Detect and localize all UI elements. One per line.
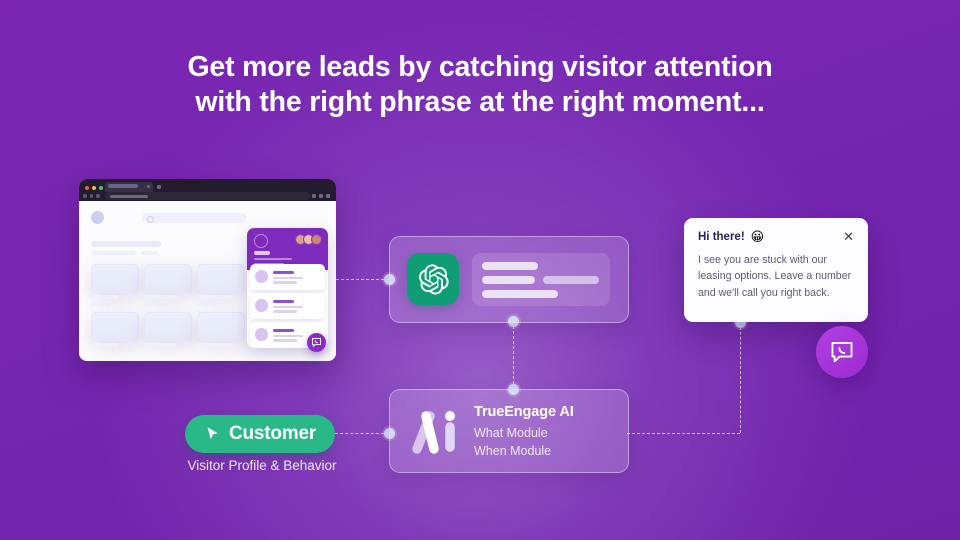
connector-openai-to-trueengage	[513, 321, 514, 389]
content-line-placeholder	[144, 343, 177, 347]
chat-widget-fab[interactable]	[816, 326, 868, 378]
chat-panel-row[interactable]	[250, 293, 325, 319]
trueengage-ai-logo-icon	[403, 401, 465, 461]
content-line-placeholder	[91, 302, 111, 306]
avatar	[255, 270, 268, 283]
content-line-placeholder	[144, 302, 164, 306]
content-line-placeholder	[197, 343, 233, 347]
content-line-placeholder	[144, 295, 177, 299]
grinning-face-emoji-icon: 😀	[751, 230, 765, 243]
content-card-placeholder	[197, 312, 245, 341]
content-card-placeholder	[144, 312, 192, 341]
slide-canvas: Get more leads by catching visitor atten…	[0, 0, 960, 540]
trueengage-module-when: When Module	[474, 442, 574, 460]
new-tab-icon[interactable]	[157, 185, 161, 189]
content-card-placeholder	[91, 264, 139, 293]
openai-logo-tile	[407, 253, 459, 305]
chat-popup-message: I see you are stuck with our leasing opt…	[698, 252, 854, 301]
chat-popup-greeting: Hi there!	[698, 231, 745, 243]
connector-right-to-popup	[740, 322, 741, 433]
row-text-placeholder	[273, 277, 303, 280]
row-text-placeholder	[273, 310, 297, 313]
content-line-placeholder	[197, 295, 233, 299]
openai-integration-card[interactable]	[389, 236, 629, 323]
window-control-dots[interactable]	[85, 186, 103, 190]
connector-trueengage-to-right	[627, 433, 740, 434]
chat-panel-title-placeholder	[254, 251, 270, 255]
site-chat-widget-button[interactable]	[307, 333, 326, 352]
browser-url-bar	[83, 192, 332, 200]
avatar	[255, 328, 268, 341]
cursor-pointer-icon	[204, 425, 221, 443]
search-icon	[147, 216, 154, 223]
content-line-placeholder	[91, 295, 119, 299]
agent-avatars	[298, 234, 322, 245]
website-browser-window	[79, 179, 336, 361]
url-input[interactable]	[105, 192, 310, 200]
chat-greeting-popup[interactable]: Hi there! 😀 ✕ I see you are stuck with o…	[684, 218, 868, 322]
avatar	[254, 234, 268, 248]
website-content	[79, 201, 336, 361]
customer-badge[interactable]: Customer	[185, 415, 335, 453]
page-title: Get more leads by catching visitor atten…	[0, 50, 960, 121]
row-title-placeholder	[273, 271, 294, 274]
trueengage-ai-card[interactable]: TrueEngage AI What Module When Module	[389, 389, 629, 473]
site-chat-panel[interactable]	[247, 228, 328, 348]
content-line-placeholder	[91, 343, 119, 347]
chat-panel-text-placeholder	[254, 258, 292, 261]
row-text-placeholder	[273, 335, 303, 338]
close-icon[interactable]: ✕	[843, 230, 854, 243]
content-card-placeholder	[197, 264, 245, 293]
browser-tab[interactable]	[105, 182, 153, 192]
heading-placeholder	[91, 241, 161, 247]
subheading-placeholder	[91, 251, 136, 255]
connector-customer-to-trueengage	[335, 433, 389, 434]
trueengage-module-what: What Module	[474, 424, 574, 442]
content-card-placeholder	[91, 312, 139, 341]
row-text-placeholder	[273, 306, 303, 309]
trueengage-title: TrueEngage AI	[474, 404, 574, 420]
chat-bubble-phone-icon	[829, 339, 855, 365]
headline-line-2: with the right phrase at the right momen…	[0, 85, 960, 120]
browser-nav-icons[interactable]	[83, 194, 100, 198]
openai-text-placeholder	[472, 253, 610, 306]
subheading-placeholder	[141, 251, 158, 255]
trueengage-text-block: TrueEngage AI What Module When Module	[474, 404, 574, 461]
row-title-placeholder	[273, 329, 294, 332]
row-text-placeholder	[273, 339, 297, 342]
avatar	[255, 299, 268, 312]
row-title-placeholder	[273, 300, 294, 303]
chat-popup-header: Hi there! 😀 ✕	[698, 230, 854, 243]
chat-bubble-phone-icon	[311, 337, 322, 348]
site-logo-placeholder	[91, 211, 104, 224]
customer-badge-label: Customer	[229, 423, 316, 445]
site-search-placeholder[interactable]	[142, 213, 247, 223]
customer-badge-caption: Visitor Profile & Behavior	[160, 458, 364, 473]
connector-browser-to-openai	[336, 279, 389, 280]
openai-logo-icon	[417, 263, 450, 296]
chat-panel-row[interactable]	[250, 264, 325, 290]
browser-toolbar-icons[interactable]	[312, 194, 330, 198]
browser-chrome-bar	[79, 179, 336, 201]
headline-line-1: Get more leads by catching visitor atten…	[0, 50, 960, 85]
content-card-placeholder	[144, 264, 192, 293]
content-line-placeholder	[197, 302, 217, 306]
row-text-placeholder	[273, 281, 297, 284]
